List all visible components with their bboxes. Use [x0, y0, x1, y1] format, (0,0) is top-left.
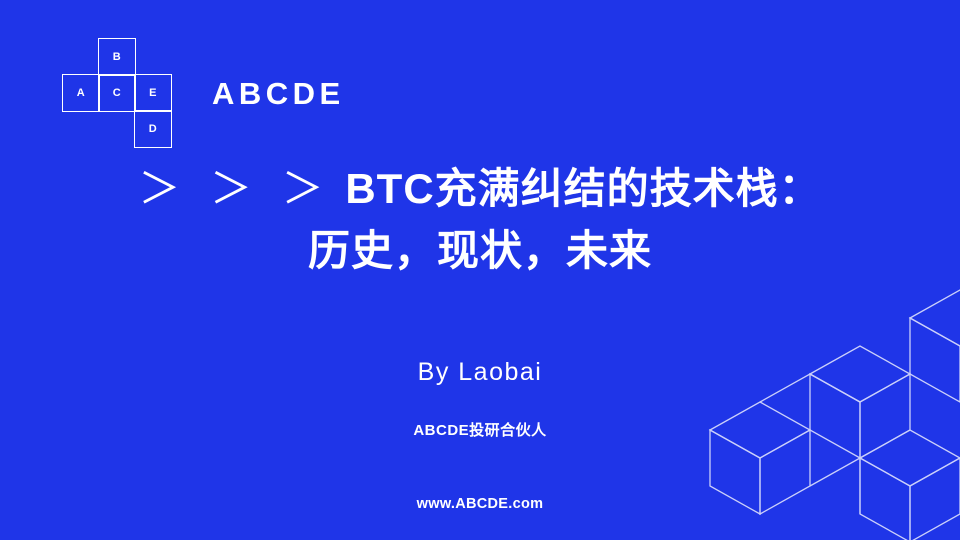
title-line-2: 历史，现状，未来 — [0, 220, 960, 282]
logo: B A C E D ABCDE — [62, 38, 345, 146]
byline: By Laobai — [0, 358, 960, 387]
logo-wordmark: ABCDE — [212, 76, 345, 112]
page-title: ＞ ＞ ＞ BTC充满纠结的技术栈： 历史，现状，未来 — [0, 158, 960, 282]
logo-cell-b: B — [98, 38, 136, 76]
logo-cell-c: C — [98, 74, 136, 112]
title-line-1: ＞ ＞ ＞ BTC充满纠结的技术栈： — [0, 158, 960, 220]
logo-cell-d: D — [134, 110, 172, 148]
arrow-prefix: ＞ ＞ ＞ — [138, 165, 332, 212]
logo-cell-e: E — [134, 74, 172, 112]
slide-root: B A C E D ABCDE ＞ ＞ ＞ BTC充满纠结的技术栈： 历史，现状… — [0, 0, 960, 540]
title-text-1: BTC充满纠结的技术栈： — [345, 165, 821, 212]
website-url: www.ABCDE.com — [0, 496, 960, 512]
logo-cell-a: A — [62, 74, 100, 112]
logo-mark: B A C E D — [62, 38, 184, 146]
author-role: ABCDE投研合伙人 — [0, 419, 960, 440]
